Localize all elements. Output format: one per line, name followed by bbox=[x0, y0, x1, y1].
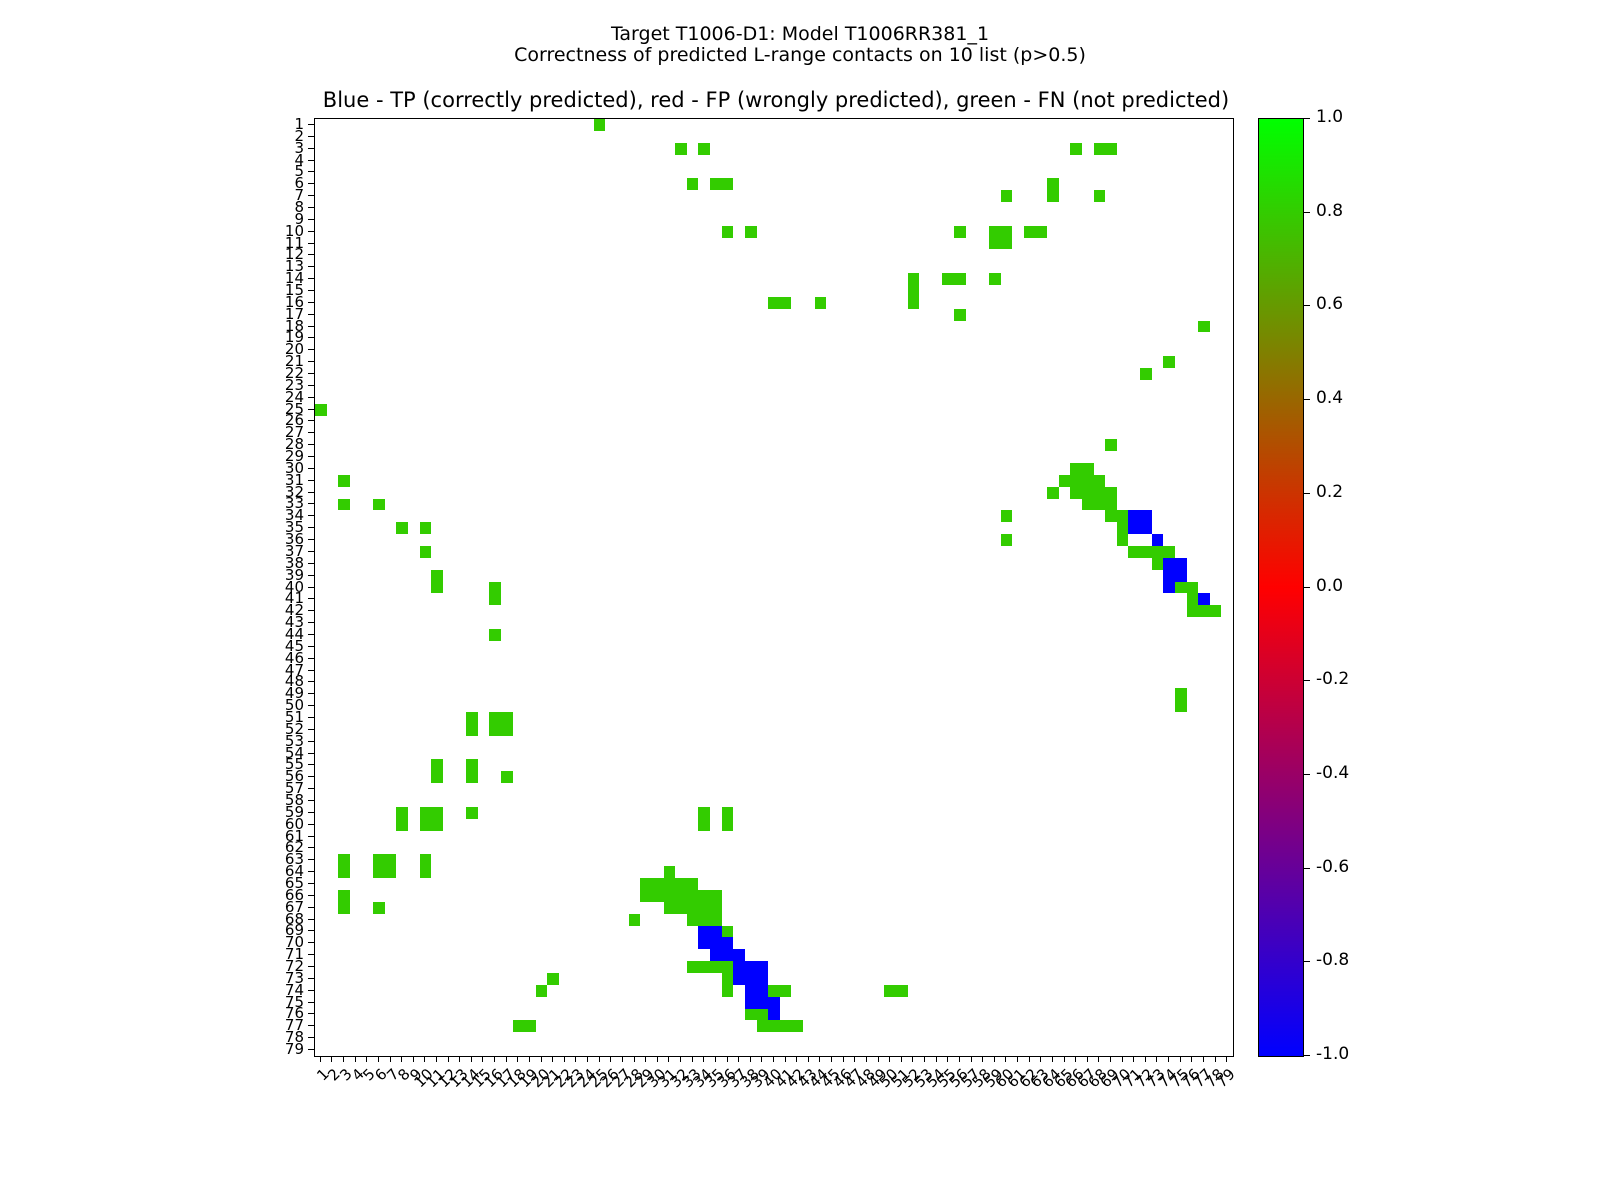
y-tick-mark bbox=[308, 278, 314, 279]
x-tick-mark bbox=[901, 1056, 902, 1062]
y-tick-mark bbox=[308, 776, 314, 777]
x-tick-mark bbox=[1215, 1056, 1216, 1062]
heatmap-cell-fn bbox=[768, 297, 791, 309]
colorbar-tick-label: 0.2 bbox=[1316, 485, 1343, 499]
x-tick-mark bbox=[668, 1056, 669, 1062]
x-tick-mark bbox=[1122, 1056, 1123, 1062]
x-tick-mark bbox=[448, 1056, 449, 1062]
y-tick-mark bbox=[308, 705, 314, 706]
x-tick-mark bbox=[703, 1056, 704, 1062]
heatmap-cell-fn bbox=[942, 273, 965, 285]
x-tick-mark bbox=[599, 1056, 600, 1062]
heatmap-cell-fn bbox=[373, 854, 396, 878]
heatmap-cell-fn bbox=[698, 143, 710, 155]
heatmap-cell-fn bbox=[1001, 534, 1013, 546]
y-tick-label: 79 bbox=[242, 1043, 304, 1055]
x-tick-mark bbox=[878, 1056, 879, 1062]
colorbar-tick-label: -1.0 bbox=[1316, 1047, 1349, 1061]
heatmap-cell-fn bbox=[431, 582, 443, 594]
x-tick-mark bbox=[715, 1056, 716, 1062]
y-tick-mark bbox=[308, 207, 314, 208]
x-tick-mark bbox=[552, 1056, 553, 1062]
heatmap-cell-fn bbox=[1070, 463, 1093, 475]
heatmap-cell-fn bbox=[1082, 499, 1117, 511]
heatmap-cell-fn bbox=[884, 985, 907, 997]
heatmap-cell-fn bbox=[815, 297, 827, 309]
colorbar-tick-mark bbox=[1303, 305, 1310, 306]
x-tick-mark bbox=[1075, 1056, 1076, 1062]
figure-suptitle-line-2: Correctness of predicted L-range contact… bbox=[0, 43, 1600, 68]
heatmap-cell-fn bbox=[431, 759, 443, 783]
y-tick-mark bbox=[308, 183, 314, 184]
heatmap-cell-fn bbox=[1105, 510, 1128, 522]
x-tick-mark bbox=[1145, 1056, 1146, 1062]
x-tick-mark bbox=[947, 1056, 948, 1062]
y-tick-mark bbox=[308, 171, 314, 172]
x-tick-mark bbox=[564, 1056, 565, 1062]
x-tick-mark bbox=[819, 1056, 820, 1062]
heatmap-cell-fn bbox=[466, 712, 478, 736]
x-tick-mark bbox=[1017, 1056, 1018, 1062]
y-tick-mark bbox=[308, 919, 314, 920]
y-tick-mark bbox=[308, 326, 314, 327]
heatmap-cell-fn bbox=[547, 973, 559, 985]
y-tick-mark bbox=[308, 385, 314, 386]
y-tick-mark bbox=[308, 420, 314, 421]
x-tick-mark bbox=[436, 1056, 437, 1062]
y-tick-mark bbox=[308, 871, 314, 872]
heatmap-cell-fn bbox=[338, 854, 350, 878]
y-tick-mark bbox=[308, 409, 314, 410]
y-tick-mark bbox=[308, 681, 314, 682]
y-tick-mark bbox=[308, 195, 314, 196]
x-tick-mark bbox=[355, 1056, 356, 1062]
contact-map-cells bbox=[315, 119, 1233, 1056]
heatmap-cell-fn bbox=[908, 285, 920, 309]
heatmap-cell-fn bbox=[629, 914, 641, 926]
x-tick-mark bbox=[889, 1056, 890, 1062]
y-tick-mark bbox=[308, 587, 314, 588]
heatmap-cell-fn bbox=[1001, 510, 1013, 522]
x-tick-mark bbox=[634, 1056, 635, 1062]
x-tick-mark bbox=[924, 1056, 925, 1062]
figure-canvas: Target T1006-D1: Model T1006RR381_1 Corr… bbox=[0, 0, 1600, 1200]
x-tick-mark bbox=[796, 1056, 797, 1062]
y-tick-mark bbox=[308, 539, 314, 540]
heatmap-cell-fn bbox=[1175, 688, 1187, 712]
x-tick-mark bbox=[1168, 1056, 1169, 1062]
y-tick-mark bbox=[308, 658, 314, 659]
heatmap-cell-fn bbox=[687, 961, 733, 973]
heatmap-cell-tp bbox=[1128, 510, 1151, 522]
colorbar-tick-label: 1.0 bbox=[1316, 110, 1343, 124]
heatmap-cell-fn bbox=[1163, 356, 1175, 368]
heatmap-cell-fn bbox=[954, 226, 966, 238]
y-tick-mark bbox=[308, 942, 314, 943]
y-tick-mark bbox=[308, 468, 314, 469]
heatmap-cell-fn bbox=[640, 878, 663, 902]
x-tick-mark bbox=[482, 1056, 483, 1062]
heatmap-cell-fn bbox=[664, 866, 676, 878]
y-tick-mark bbox=[308, 812, 314, 813]
heatmap-cell-fn bbox=[338, 890, 350, 914]
heatmap-cell-fn bbox=[1094, 190, 1106, 202]
y-tick-mark bbox=[308, 693, 314, 694]
y-tick-mark bbox=[308, 1037, 314, 1038]
y-tick-mark bbox=[308, 432, 314, 433]
y-tick-mark bbox=[308, 361, 314, 362]
y-tick-mark bbox=[308, 160, 314, 161]
colorbar-tick-label: -0.6 bbox=[1316, 860, 1349, 874]
heatmap-cell-tp bbox=[733, 949, 745, 961]
heatmap-cell-tp bbox=[710, 937, 733, 961]
y-tick-mark bbox=[308, 729, 314, 730]
y-tick-mark bbox=[308, 930, 314, 931]
colorbar-tick-mark bbox=[1303, 774, 1310, 775]
y-tick-mark bbox=[308, 598, 314, 599]
heatmap-cell-fn bbox=[675, 143, 687, 155]
x-tick-mark bbox=[494, 1056, 495, 1062]
y-tick-mark bbox=[308, 349, 314, 350]
colorbar-tick-label: -0.4 bbox=[1316, 766, 1349, 780]
x-tick-mark bbox=[1156, 1056, 1157, 1062]
x-tick-mark bbox=[506, 1056, 507, 1062]
y-tick-mark bbox=[308, 954, 314, 955]
x-tick-mark bbox=[982, 1056, 983, 1062]
colorbar-tick-mark bbox=[1303, 587, 1310, 588]
y-tick-mark bbox=[308, 859, 314, 860]
y-tick-mark bbox=[308, 824, 314, 825]
x-tick-mark bbox=[1203, 1056, 1204, 1062]
x-tick-mark bbox=[610, 1056, 611, 1062]
x-tick-mark bbox=[366, 1056, 367, 1062]
y-tick-mark bbox=[308, 610, 314, 611]
x-tick-mark bbox=[854, 1056, 855, 1062]
y-tick-mark bbox=[308, 1002, 314, 1003]
heatmap-cell-fn bbox=[1047, 178, 1059, 202]
heatmap-cell-fn bbox=[989, 273, 1001, 285]
y-tick-mark bbox=[308, 670, 314, 671]
y-tick-mark bbox=[308, 373, 314, 374]
heatmap-cell-fn bbox=[1024, 226, 1047, 238]
x-tick-mark bbox=[1052, 1056, 1053, 1062]
heatmap-cell-tp bbox=[745, 985, 768, 1009]
heatmap-cell-fn bbox=[489, 712, 512, 736]
heatmap-cell-tp bbox=[733, 961, 768, 985]
heatmap-cell-fn bbox=[664, 878, 699, 914]
y-tick-mark bbox=[308, 254, 314, 255]
heatmap-cell-fn bbox=[698, 807, 710, 831]
heatmap-cell-fn bbox=[594, 119, 606, 131]
x-tick-mark bbox=[750, 1056, 751, 1062]
y-tick-mark bbox=[308, 480, 314, 481]
heatmap-cell-fn bbox=[1117, 522, 1129, 546]
y-tick-mark bbox=[308, 148, 314, 149]
x-tick-mark bbox=[773, 1056, 774, 1062]
y-tick-mark bbox=[308, 515, 314, 516]
y-tick-mark bbox=[308, 883, 314, 884]
y-tick-mark bbox=[308, 136, 314, 137]
colorbar-tick-label: 0.0 bbox=[1316, 579, 1343, 593]
heatmap-cell-fn bbox=[315, 404, 327, 416]
heatmap-cell-fn bbox=[1152, 558, 1164, 570]
y-tick-mark bbox=[308, 231, 314, 232]
y-tick-mark bbox=[308, 788, 314, 789]
heatmap-cell-tp bbox=[1163, 558, 1186, 582]
x-tick-mark bbox=[727, 1056, 728, 1062]
x-tick-mark bbox=[1226, 1056, 1227, 1062]
y-tick-mark bbox=[308, 978, 314, 979]
y-tick-mark bbox=[308, 503, 314, 504]
heatmap-cell-fn bbox=[954, 309, 966, 321]
y-tick-mark bbox=[308, 219, 314, 220]
heatmap-cell-tp bbox=[768, 997, 780, 1009]
x-tick-mark bbox=[912, 1056, 913, 1062]
heatmap-cell-fn bbox=[1094, 143, 1117, 155]
heatmap-cell-fn bbox=[420, 546, 432, 558]
colorbar-tick-mark bbox=[1303, 680, 1310, 681]
y-tick-mark bbox=[308, 1025, 314, 1026]
x-tick-mark bbox=[785, 1056, 786, 1062]
colorbar-tick-mark bbox=[1303, 212, 1310, 213]
x-tick-mark bbox=[692, 1056, 693, 1062]
heatmap-cell-fn bbox=[1070, 487, 1116, 499]
heatmap-cell-tp bbox=[1198, 593, 1210, 605]
x-tick-mark bbox=[378, 1056, 379, 1062]
x-tick-mark bbox=[1087, 1056, 1088, 1062]
y-tick-mark bbox=[308, 741, 314, 742]
y-tick-mark bbox=[308, 717, 314, 718]
x-tick-mark bbox=[994, 1056, 995, 1062]
heatmap-cell-fn bbox=[1198, 321, 1210, 333]
x-tick-mark bbox=[1098, 1056, 1099, 1062]
heatmap-cell-fn bbox=[1175, 582, 1198, 594]
heatmap-cell-tp bbox=[1152, 534, 1164, 546]
heatmap-cell-fn bbox=[757, 1020, 803, 1032]
heatmap-cell-fn bbox=[908, 273, 920, 285]
x-tick-mark bbox=[808, 1056, 809, 1062]
heatmap-cell-fn bbox=[536, 985, 548, 997]
x-tick-mark bbox=[331, 1056, 332, 1062]
heatmap-cell-fn bbox=[722, 226, 734, 238]
heatmap-cell-fn bbox=[687, 178, 699, 190]
x-tick-mark bbox=[1133, 1056, 1134, 1062]
x-tick-mark bbox=[587, 1056, 588, 1062]
heatmap-cell-fn bbox=[1070, 143, 1082, 155]
heatmap-cell-fn bbox=[1140, 368, 1152, 380]
x-tick-mark bbox=[541, 1056, 542, 1062]
x-tick-mark bbox=[413, 1056, 414, 1062]
y-tick-mark bbox=[308, 243, 314, 244]
x-tick-mark bbox=[1029, 1056, 1030, 1062]
x-tick-mark bbox=[343, 1056, 344, 1062]
y-tick-mark bbox=[308, 966, 314, 967]
heatmap-cell-fn bbox=[1047, 487, 1059, 499]
heatmap-cell-fn bbox=[489, 582, 501, 606]
heatmap-cell-fn bbox=[745, 226, 757, 238]
x-tick-mark bbox=[936, 1056, 937, 1062]
y-tick-mark bbox=[308, 622, 314, 623]
x-tick-mark bbox=[831, 1056, 832, 1062]
heatmap-cell-fn bbox=[1163, 546, 1175, 558]
heatmap-cell-fn bbox=[420, 807, 443, 831]
heatmap-cell-fn bbox=[687, 914, 710, 926]
y-tick-mark bbox=[308, 764, 314, 765]
y-tick-mark bbox=[308, 847, 314, 848]
heatmap-cell-fn bbox=[373, 902, 385, 914]
y-tick-mark bbox=[308, 527, 314, 528]
y-tick-mark bbox=[308, 575, 314, 576]
colorbar-tick-label: -0.2 bbox=[1316, 672, 1349, 686]
colorbar-tick-label: 0.6 bbox=[1316, 297, 1343, 311]
heatmap-cell-fn bbox=[1105, 439, 1117, 451]
x-tick-mark bbox=[1180, 1056, 1181, 1062]
x-tick-mark bbox=[320, 1056, 321, 1062]
y-tick-mark bbox=[308, 444, 314, 445]
y-tick-mark bbox=[308, 124, 314, 125]
y-tick-mark bbox=[308, 397, 314, 398]
x-tick-mark bbox=[843, 1056, 844, 1062]
y-tick-mark bbox=[308, 753, 314, 754]
y-tick-mark bbox=[308, 456, 314, 457]
contact-map-axes bbox=[314, 118, 1234, 1057]
heatmap-cell-tp bbox=[1163, 582, 1175, 594]
x-tick-mark bbox=[401, 1056, 402, 1062]
y-tick-mark bbox=[308, 990, 314, 991]
heatmap-cell-fn bbox=[513, 1020, 536, 1032]
x-tick-mark bbox=[1064, 1056, 1065, 1062]
x-tick-mark bbox=[657, 1056, 658, 1062]
y-tick-mark bbox=[308, 290, 314, 291]
colorbar-tick-mark bbox=[1303, 868, 1310, 869]
y-tick-mark bbox=[308, 895, 314, 896]
colorbar-gradient bbox=[1259, 119, 1303, 1056]
x-tick-mark bbox=[1110, 1056, 1111, 1062]
x-tick-mark bbox=[471, 1056, 472, 1062]
y-tick-mark bbox=[308, 302, 314, 303]
heatmap-cell-fn bbox=[745, 1009, 768, 1021]
y-tick-mark bbox=[308, 266, 314, 267]
x-tick-mark bbox=[459, 1056, 460, 1062]
heatmap-cell-fn bbox=[420, 522, 432, 534]
y-tick-mark bbox=[308, 551, 314, 552]
heatmap-cell-fn bbox=[431, 570, 443, 582]
y-tick-mark bbox=[308, 314, 314, 315]
heatmap-cell-fn bbox=[373, 499, 385, 511]
heatmap-cell-fn bbox=[722, 973, 734, 997]
x-tick-mark bbox=[575, 1056, 576, 1062]
heatmap-cell-fn bbox=[338, 475, 350, 487]
colorbar-tick-label: 0.4 bbox=[1316, 391, 1343, 405]
y-tick-mark bbox=[308, 907, 314, 908]
heatmap-cell-fn bbox=[338, 499, 350, 511]
heatmap-cell-fn bbox=[489, 629, 501, 641]
x-tick-mark bbox=[1040, 1056, 1041, 1062]
heatmap-cell-fn bbox=[989, 226, 1012, 250]
x-tick-mark bbox=[424, 1056, 425, 1062]
x-tick-mark bbox=[959, 1056, 960, 1062]
colorbar-tick-mark bbox=[1303, 493, 1310, 494]
x-tick-mark bbox=[761, 1056, 762, 1062]
x-tick-mark bbox=[390, 1056, 391, 1062]
x-tick-mark bbox=[645, 1056, 646, 1062]
x-tick-mark bbox=[680, 1056, 681, 1062]
x-tick-mark bbox=[738, 1056, 739, 1062]
colorbar bbox=[1258, 118, 1304, 1057]
heatmap-cell-fn bbox=[396, 807, 408, 831]
x-tick-mark bbox=[529, 1056, 530, 1062]
x-tick-mark bbox=[517, 1056, 518, 1062]
colorbar-tick-mark bbox=[1303, 399, 1310, 400]
colorbar-tick-mark bbox=[1303, 1055, 1310, 1056]
y-tick-mark bbox=[308, 634, 314, 635]
y-tick-mark bbox=[308, 563, 314, 564]
colorbar-tick-mark bbox=[1303, 118, 1310, 119]
y-tick-mark bbox=[308, 836, 314, 837]
heatmap-cell-fn bbox=[1001, 190, 1013, 202]
heatmap-cell-fn bbox=[1059, 475, 1105, 487]
heatmap-cell-tp bbox=[1128, 522, 1151, 534]
heatmap-cell-fn bbox=[396, 522, 408, 534]
y-tick-mark bbox=[308, 492, 314, 493]
colorbar-tick-mark bbox=[1303, 961, 1310, 962]
heatmap-cell-fn bbox=[466, 759, 478, 783]
heatmap-cell-fn bbox=[466, 807, 478, 819]
heatmap-cell-fn bbox=[1187, 605, 1222, 617]
heatmap-cell-tp bbox=[768, 1009, 780, 1021]
x-tick-mark bbox=[866, 1056, 867, 1062]
x-tick-mark bbox=[1191, 1056, 1192, 1062]
heatmap-cell-fn bbox=[1128, 546, 1163, 558]
x-tick-mark bbox=[1005, 1056, 1006, 1062]
heatmap-cell-fn bbox=[722, 807, 734, 831]
y-tick-mark bbox=[308, 1049, 314, 1050]
colorbar-tick-label: -0.8 bbox=[1316, 953, 1349, 967]
y-tick-mark bbox=[308, 800, 314, 801]
heatmap-cell-fn bbox=[698, 890, 721, 914]
x-tick-mark bbox=[622, 1056, 623, 1062]
heatmap-cell-fn bbox=[768, 985, 791, 997]
colorbar-tick-label: 0.8 bbox=[1316, 204, 1343, 218]
y-tick-mark bbox=[308, 337, 314, 338]
y-tick-mark bbox=[308, 646, 314, 647]
x-tick-mark bbox=[971, 1056, 972, 1062]
heatmap-cell-fn bbox=[710, 178, 733, 190]
heatmap-cell-fn bbox=[501, 771, 513, 783]
heatmap-cell-fn bbox=[420, 854, 432, 878]
y-tick-mark bbox=[308, 1013, 314, 1014]
